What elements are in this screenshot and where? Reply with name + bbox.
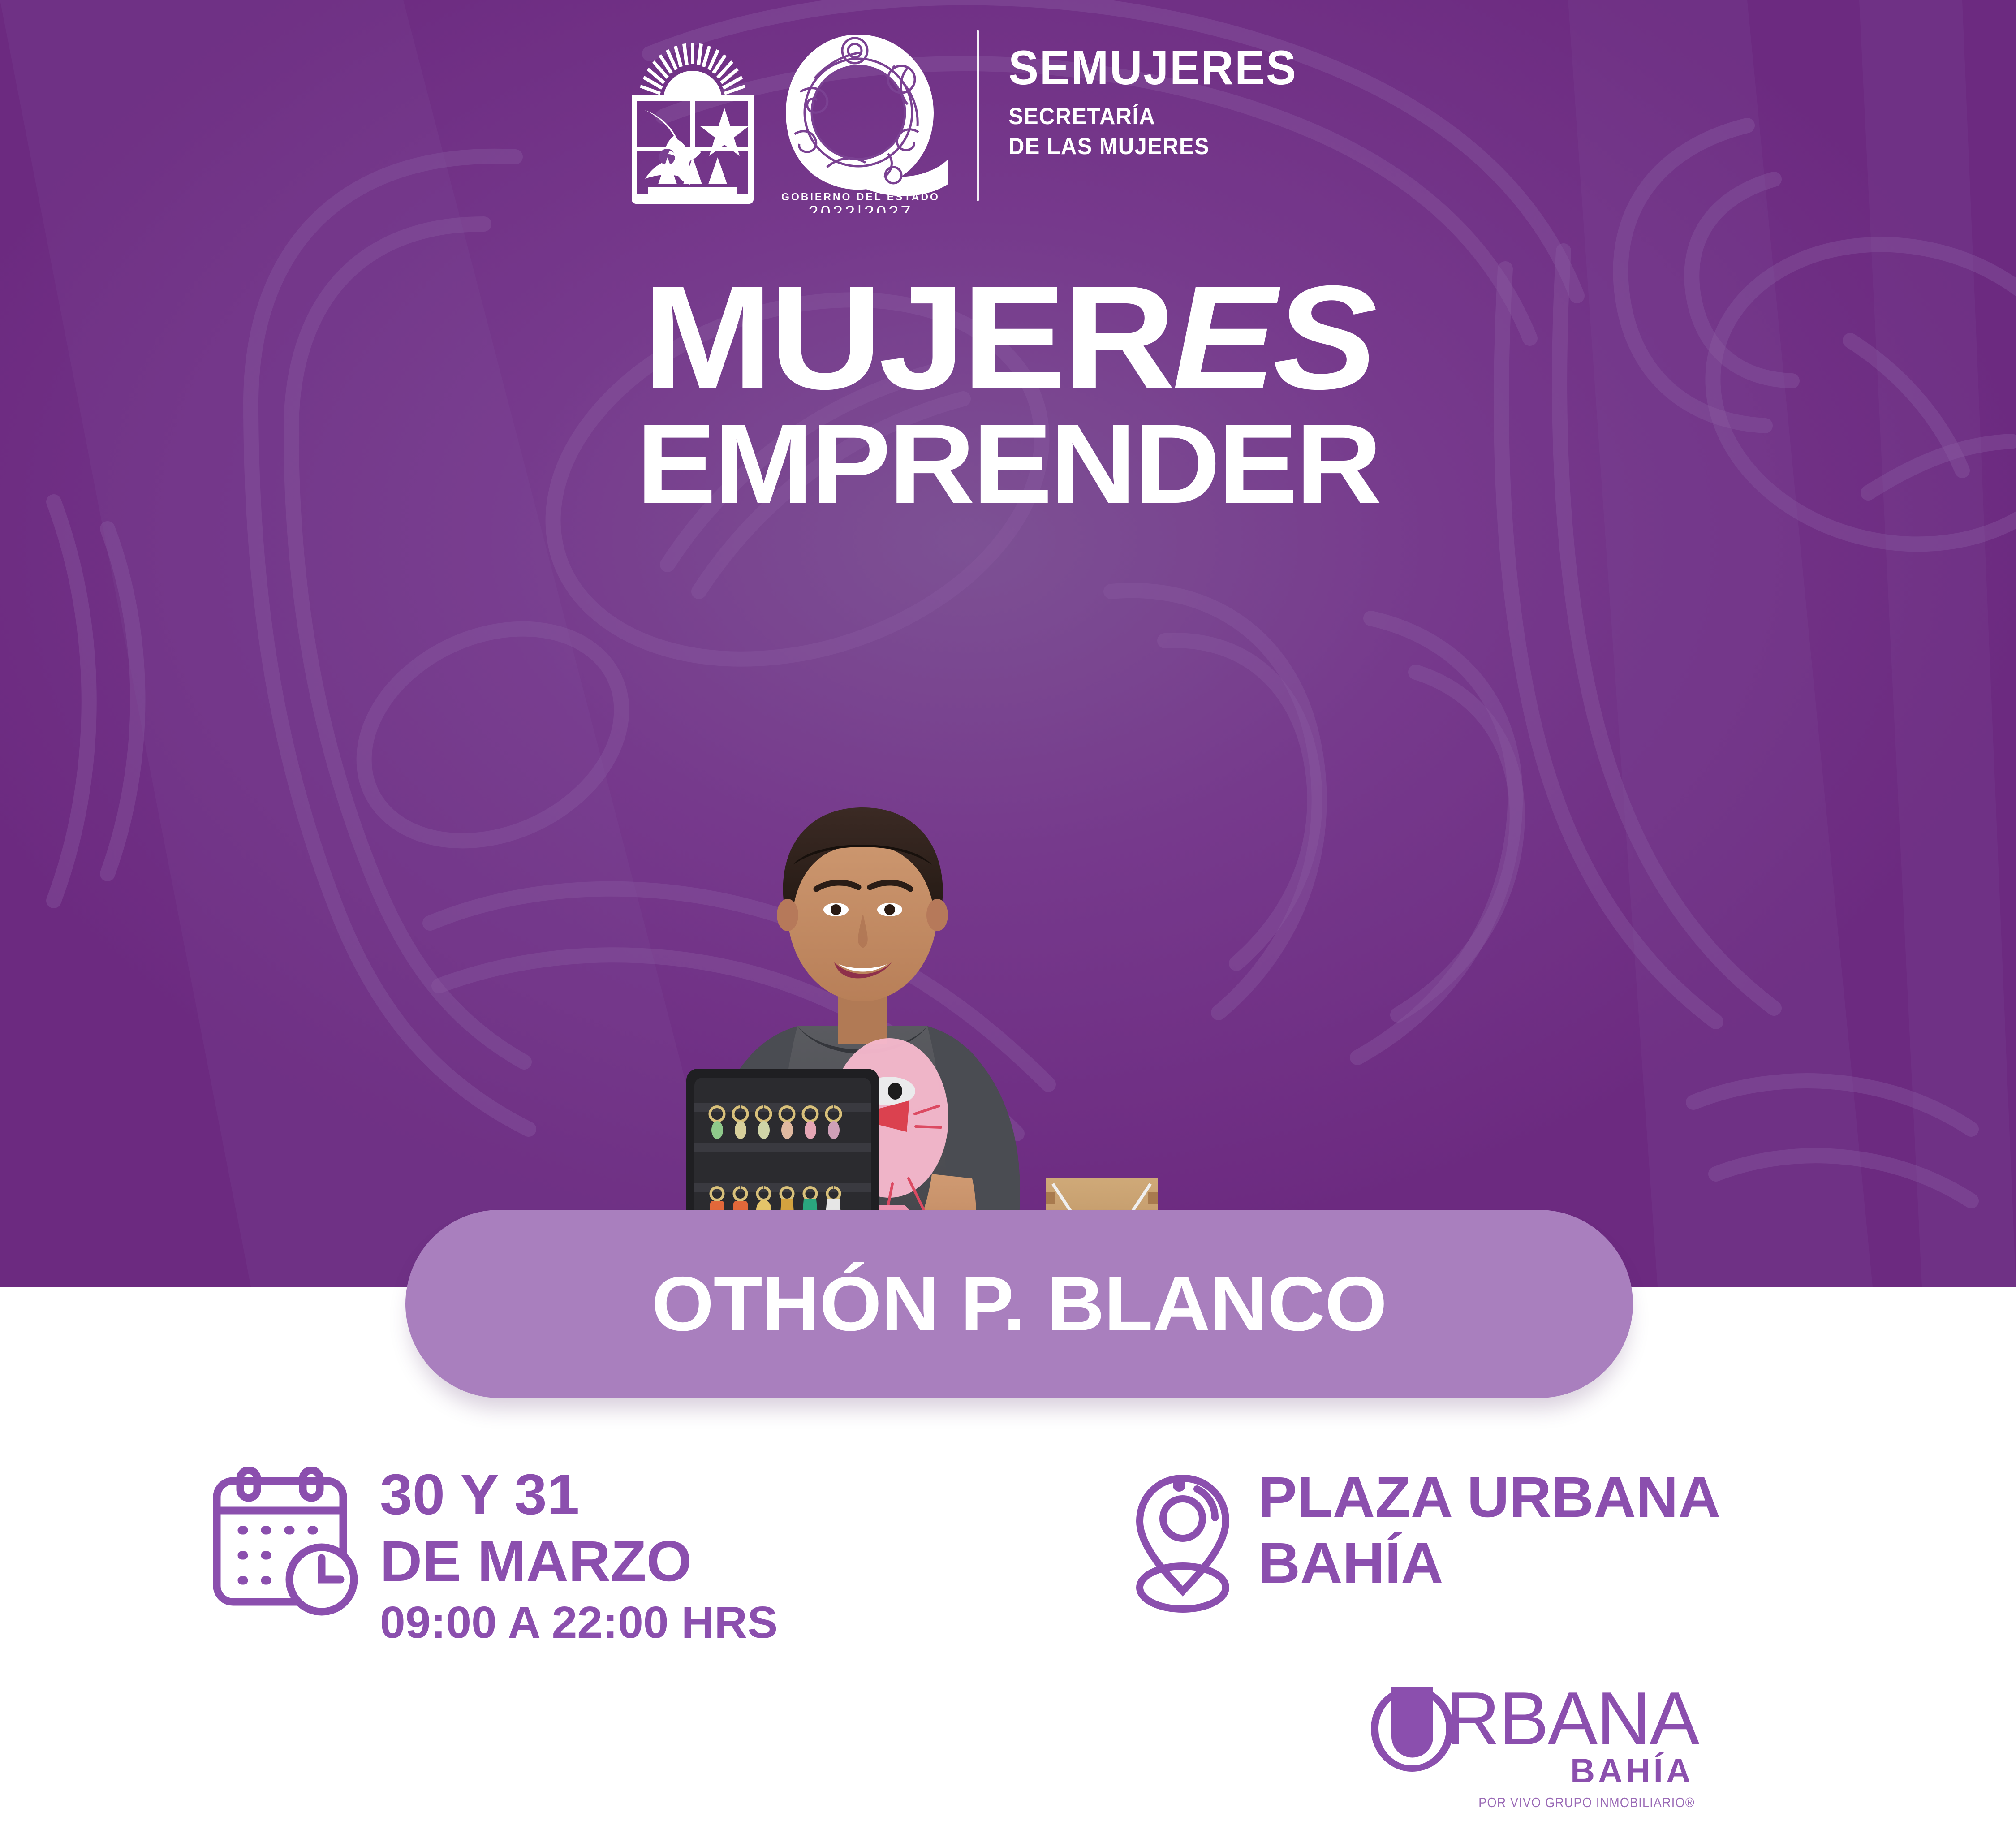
title-line-1-italic: ES xyxy=(1172,255,1374,420)
wordmark-sub-line1: SECRETARÍA xyxy=(1008,102,1301,132)
location-pin-icon xyxy=(1129,1472,1236,1615)
header-logo-row: GOBIERNO DEL ESTADO 2022|2027 SEMUJERES … xyxy=(625,25,1319,213)
sponsor-name: RBANA xyxy=(1446,1685,1698,1752)
title-line-1: MUJERES xyxy=(0,269,2016,406)
date-block: 30 Y 31 DE MARZO 09:00 A 22:00 HRS xyxy=(211,1467,770,1645)
date-line-3: 09:00 A 22:00 HRS xyxy=(380,1600,778,1645)
gobierno-label: GOBIERNO DEL ESTADO xyxy=(781,191,940,203)
place-block: PLAZA URBANA BAHÍA xyxy=(1129,1472,1711,1615)
entrepreneur-photo xyxy=(484,551,1236,1287)
place-line-1: PLAZA URBANA xyxy=(1258,1467,1720,1527)
calendar-clock-icon xyxy=(211,1467,358,1620)
page-title: MUJERES EMPRENDER xyxy=(0,269,2016,520)
date-line-2: DE MARZO xyxy=(380,1532,778,1591)
header-divider xyxy=(977,30,979,201)
title-line-2: EMPRENDER xyxy=(0,409,2016,520)
place-line-2: BAHÍA xyxy=(1258,1533,1720,1593)
quintana-roo-coat-of-arms-icon xyxy=(625,25,760,204)
event-info-row: 30 Y 31 DE MARZO 09:00 A 22:00 HRS PLAZA… xyxy=(0,1459,2016,1674)
wordmark-main: SEMUJERES xyxy=(1008,43,1297,92)
sponsor-tagline: POR VIVO GRUPO INMOBILIARIO® xyxy=(1454,1795,1698,1811)
municipality-label: OTHÓN P. BLANCO xyxy=(652,1260,1387,1348)
period-label: 2022|2027 xyxy=(808,203,913,213)
semujeres-wordmark: SEMUJERES SECRETARÍA DE LAS MUJERES xyxy=(1008,43,1319,161)
date-line-1: 30 Y 31 xyxy=(380,1466,778,1524)
municipality-pill: OTHÓN P. BLANCO xyxy=(405,1210,1633,1398)
sponsor-logo: RBANA BAHÍA POR VIVO GRUPO INMOBILIARIO® xyxy=(1371,1685,1850,1819)
hero-panel: GOBIERNO DEL ESTADO 2022|2027 SEMUJERES … xyxy=(0,0,2016,1287)
poster-root: GOBIERNO DEL ESTADO 2022|2027 SEMUJERES … xyxy=(0,0,2016,1847)
title-line-1-regular: MUJER xyxy=(642,255,1172,420)
mayan-q-glyph-logo-icon: GOBIERNO DEL ESTADO 2022|2027 xyxy=(773,25,948,213)
wordmark-sub-line2: DE LAS MUJERES xyxy=(1008,132,1301,162)
urbana-u-mark-icon xyxy=(1371,1687,1454,1772)
